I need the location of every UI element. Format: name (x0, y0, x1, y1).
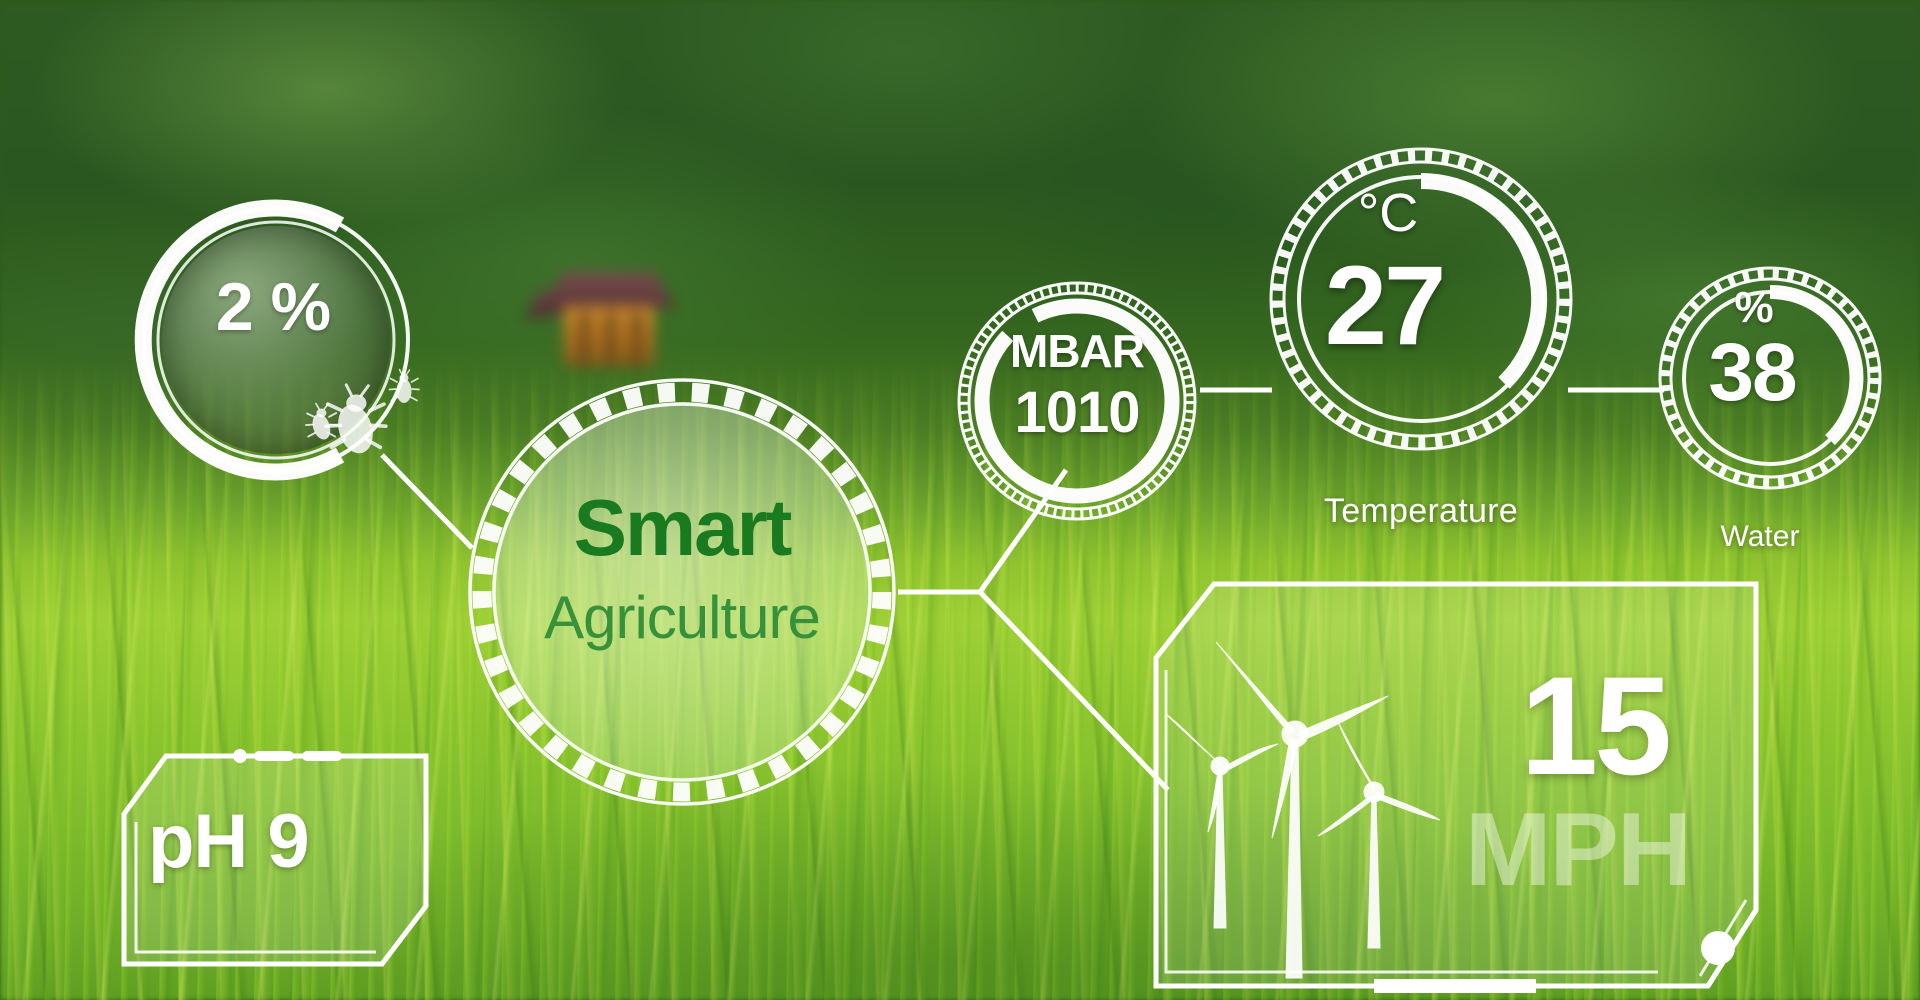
wind-panel[interactable]: 15 MPH (1152, 580, 1760, 1000)
hub-subtitle: Agriculture (466, 588, 898, 648)
smart-agriculture-infographic: 2 % (0, 0, 1920, 1000)
temperature-unit: °C (1278, 186, 1498, 240)
wind-speed-value: 15 (1520, 656, 1668, 796)
smart-agriculture-hub[interactable]: Smart Agriculture (466, 376, 898, 808)
ph-panel[interactable]: pH 9 (120, 752, 430, 968)
pressure-value: 1010 (952, 384, 1202, 442)
ph-value: pH 9 (148, 804, 309, 880)
temperature-gauge[interactable]: °C 27 Temperature (1262, 140, 1580, 458)
pressure-unit: MBAR (952, 328, 1202, 374)
insects-icon (304, 374, 424, 456)
water-gauge[interactable]: % 38 Water (1654, 262, 1886, 494)
pressure-gauge[interactable]: MBAR 1010 (952, 276, 1202, 526)
hub-title: Smart (466, 488, 898, 568)
water-value: 38 (1636, 332, 1868, 414)
temperature-value: 27 (1274, 250, 1494, 362)
pest-gauge[interactable]: 2 % (128, 198, 418, 488)
wind-turbine-icon (1172, 638, 1482, 978)
temperature-label: Temperature (1248, 492, 1594, 531)
water-unit: % (1638, 286, 1870, 330)
wind-speed-unit: MPH (1465, 798, 1690, 902)
water-label: Water (1644, 520, 1876, 554)
pest-value: 2 % (128, 268, 418, 346)
